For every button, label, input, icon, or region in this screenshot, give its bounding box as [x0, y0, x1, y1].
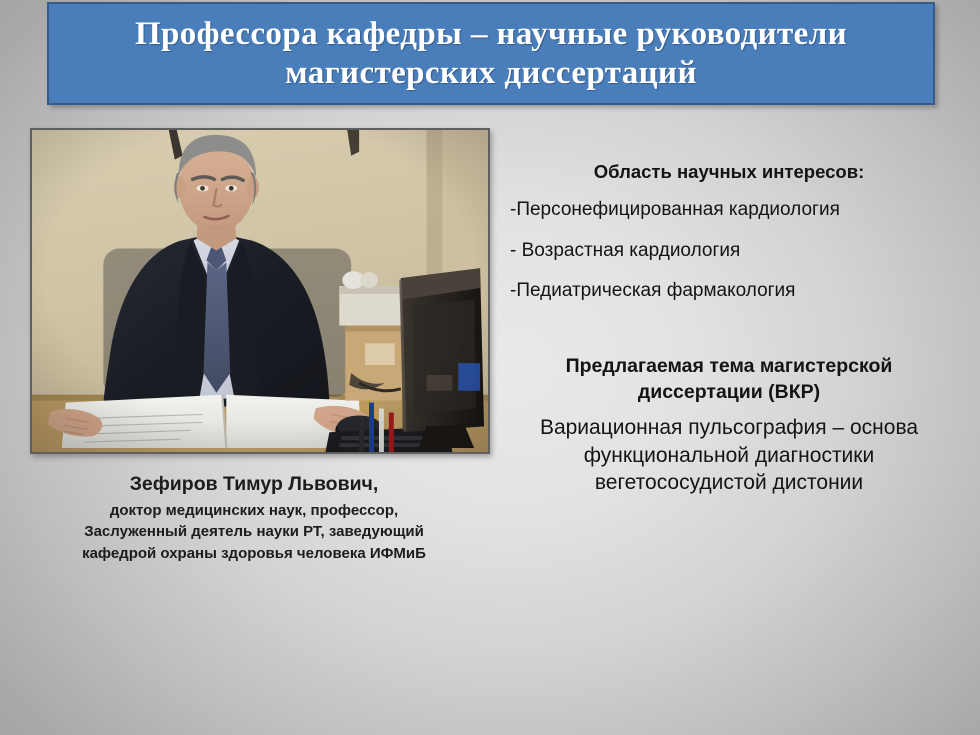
- research-interest-item: -Педиатрическая фармакология: [510, 279, 962, 304]
- professor-photo: [30, 128, 490, 454]
- slide-canvas: Профессора кафедры – научные руководител…: [0, 0, 980, 735]
- thesis-body-line-1: Вариационная пульсография – основа: [540, 416, 918, 439]
- proposed-thesis-heading: Предлагаемая тема магистерской диссертац…: [496, 354, 962, 406]
- content-column: Область научных интересов: -Персонефицир…: [496, 160, 962, 497]
- title-line-2: магистерских диссертаций: [285, 55, 697, 91]
- thesis-body-line-3: вегетососудистой дистонии: [595, 471, 863, 494]
- thesis-heading-line-1: Предлагаемая тема магистерской: [566, 355, 893, 377]
- slide-title-banner: Профессора кафедры – научные руководител…: [47, 2, 935, 105]
- research-interests-heading: Область научных интересов:: [496, 160, 962, 184]
- photo-caption: Зефиров Тимур Львович, доктор медицински…: [14, 472, 494, 565]
- proposed-thesis-topic: Вариационная пульсография – основа функц…: [496, 414, 962, 497]
- title-line-1: Профессора кафедры – научные руководител…: [135, 16, 847, 52]
- proposed-thesis-block: Предлагаемая тема магистерской диссертац…: [496, 354, 962, 497]
- thesis-heading-line-2: диссертации (ВКР): [638, 381, 820, 403]
- professor-title-line-3: кафедрой охраны здоровья человека ИФМиБ: [14, 543, 494, 565]
- professor-photo-image: [32, 130, 488, 452]
- professor-title-line-1: доктор медицинских наук, профессор,: [14, 500, 494, 522]
- professor-title-line-2: Заслуженный деятель науки РТ, заведующий: [14, 521, 494, 543]
- thesis-body-line-2: функциональной диагностики: [584, 444, 874, 467]
- research-interest-item: -Персонефицированная кардиология: [510, 198, 962, 223]
- page-title: Профессора кафедры – научные руководител…: [121, 15, 861, 93]
- professor-name: Зефиров Тимур Львович,: [14, 472, 494, 498]
- research-interest-item: - Возрастная кардиология: [510, 239, 962, 264]
